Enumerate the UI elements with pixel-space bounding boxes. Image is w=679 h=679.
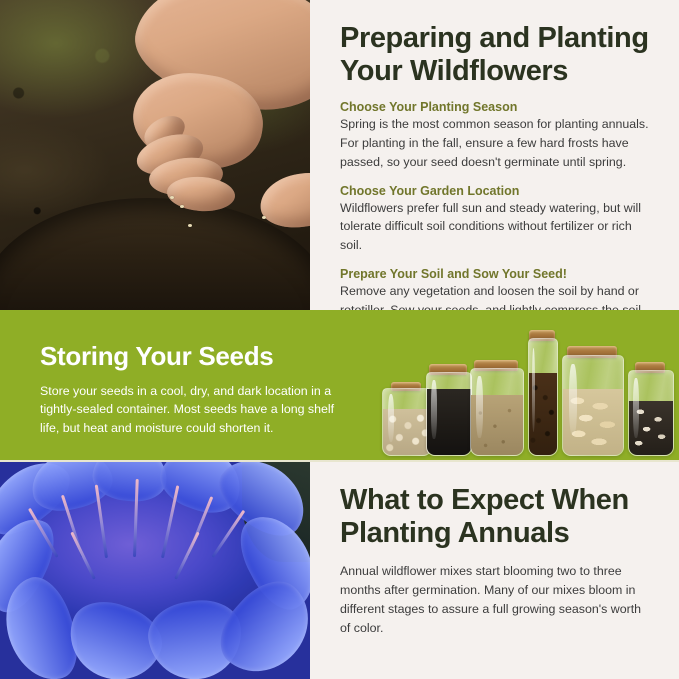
jar-sandy-grain	[470, 360, 522, 456]
storing-seeds-band: Storing Your Seeds Store your seeds in a…	[0, 310, 679, 460]
page-title: Preparing and Planting Your Wildflowers	[340, 22, 655, 88]
seed-speck	[170, 196, 174, 199]
jar-tall-brown-seeds	[528, 330, 556, 456]
jar-black-seeds	[426, 364, 470, 456]
body-garden-location: Wildflowers prefer full sun and steady w…	[340, 199, 655, 256]
band-heading: Storing Your Seeds	[40, 342, 340, 371]
top-text-panel: Preparing and Planting Your Wildflowers …	[310, 0, 679, 310]
blue-cornflower-photo	[0, 462, 310, 679]
seed-speck	[262, 216, 266, 219]
body-planting-season: Spring is the most common season for pla…	[340, 115, 655, 172]
bottom-body: Annual wildflower mixes start blooming t…	[340, 562, 653, 637]
jar-pumpkin-seeds	[562, 346, 622, 456]
subheading-prepare-soil: Prepare Your Soil and Sow Your Seed!	[340, 267, 655, 281]
subheading-planting-season: Choose Your Planting Season	[340, 100, 655, 114]
subheading-garden-location: Choose Your Garden Location	[340, 184, 655, 198]
hand-sowing-seeds-in-soil-photo	[0, 0, 310, 310]
seed-speck	[180, 205, 184, 208]
jar-sunflower-seeds	[628, 362, 672, 456]
infographic-page: Preparing and Planting Your Wildflowers …	[0, 0, 679, 679]
top-section: Preparing and Planting Your Wildflowers …	[0, 0, 679, 310]
band-text-block: Storing Your Seeds Store your seeds in a…	[40, 342, 340, 438]
jar-white-beans	[382, 382, 430, 456]
seed-speck	[188, 224, 192, 227]
bottom-heading: What to Expect When Planting Annuals	[340, 484, 653, 550]
band-body: Store your seeds in a cool, dry, and dar…	[40, 382, 340, 439]
glass-seed-jars-photo	[378, 318, 678, 456]
bottom-text-panel: What to Expect When Planting Annuals Ann…	[310, 462, 679, 679]
bottom-section: What to Expect When Planting Annuals Ann…	[0, 460, 679, 679]
